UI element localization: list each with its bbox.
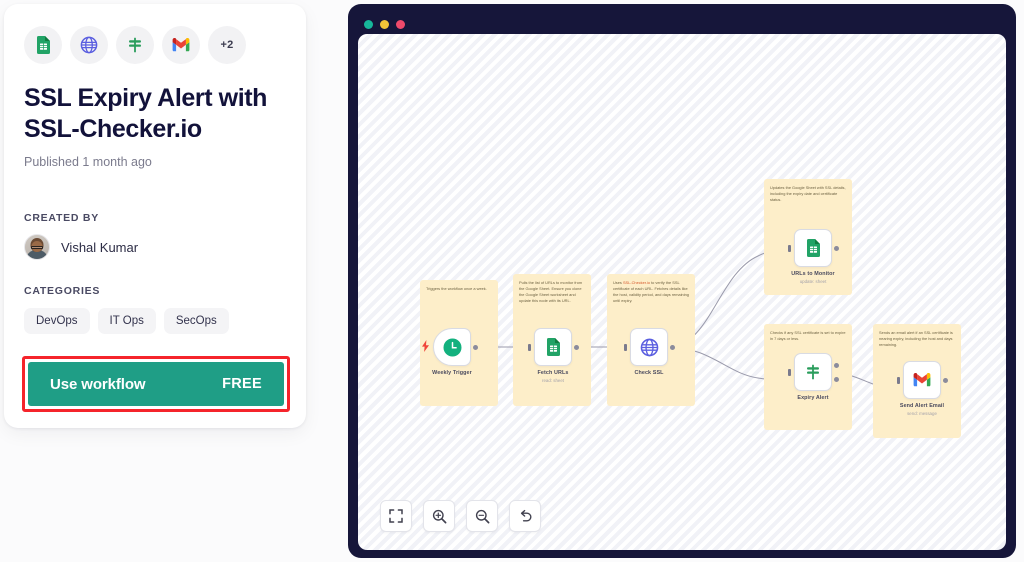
gmail-icon [913, 373, 931, 387]
node-weekly-trigger-label: Weekly Trigger [432, 370, 472, 376]
workflow-canvas[interactable]: Triggers the workflow once a week. Pulls… [358, 34, 1006, 550]
note-check-ssl-text: Uses SSL-Checker.io to verify the SSL ce… [613, 280, 689, 303]
note-expiry-alert-text: Checks if any SSL certificate is set to … [770, 330, 846, 342]
integration-icon-row: +2 [24, 26, 286, 64]
output-port[interactable] [473, 345, 478, 350]
avatar [24, 234, 50, 260]
created-by-label: CREATED BY [24, 212, 286, 224]
use-workflow-highlight: Use workflow FREE [22, 356, 290, 412]
zoom-out-button[interactable] [466, 500, 498, 532]
created-by-section: CREATED BY Vishal Kumar [24, 212, 286, 260]
fit-to-view-button[interactable] [380, 500, 412, 532]
undo-icon [518, 509, 533, 524]
traffic-light-red-icon[interactable] [396, 20, 405, 29]
node-fetch-urls-box[interactable] [534, 328, 572, 366]
output-port[interactable] [943, 378, 948, 383]
clock-icon [443, 338, 462, 357]
author-name: Vishal Kumar [61, 240, 138, 255]
category-chip-row: DevOps IT Ops SecOps [24, 308, 286, 334]
node-expiry-alert-label: Expiry Alert [797, 395, 828, 401]
google-sheets-icon [806, 239, 821, 257]
node-check-ssl-label: Check SSL [634, 370, 663, 376]
node-urls-to-monitor-label: URLs to Monitor [791, 271, 834, 277]
node-check-ssl[interactable]: Check SSL [630, 328, 668, 366]
note-fetch-urls-text: Pulls the list of URLs to monitor from t… [519, 280, 585, 303]
globe-icon [70, 26, 108, 64]
gmail-icon [162, 26, 200, 64]
input-port[interactable] [528, 344, 531, 351]
preview-window: Triggers the workflow once a week. Pulls… [348, 4, 1016, 558]
note-weekly-trigger-text: Triggers the workflow once a week. [426, 286, 492, 292]
page-title: SSL Expiry Alert with SSL-Checker.io [24, 83, 286, 144]
node-weekly-trigger-box[interactable] [433, 328, 471, 366]
input-port[interactable] [788, 369, 791, 376]
node-fetch-urls[interactable]: Fetch URLs read: sheet [534, 328, 572, 366]
use-workflow-button[interactable]: Use workflow FREE [28, 362, 284, 406]
node-send-alert-email[interactable]: Send Alert Email send: message [903, 361, 941, 399]
expand-icon [389, 509, 403, 523]
categories-section: CATEGORIES DevOps IT Ops SecOps [24, 285, 286, 334]
globe-icon [640, 338, 659, 357]
page-root: +2 SSL Expiry Alert with SSL-Checker.io … [0, 0, 1024, 562]
categories-label: CATEGORIES [24, 285, 286, 297]
input-port[interactable] [897, 377, 900, 384]
node-fetch-urls-label: Fetch URLs [538, 370, 569, 376]
window-titlebar [358, 14, 1006, 34]
output-port[interactable] [574, 345, 579, 350]
note-urls-to-monitor-text: Updates the Google Sheet with SSL detail… [770, 185, 846, 203]
zoom-in-button[interactable] [423, 500, 455, 532]
author-row[interactable]: Vishal Kumar [24, 234, 286, 260]
trigger-bolt-icon [422, 340, 429, 352]
node-expiry-alert[interactable]: Expiry Alert [794, 353, 832, 391]
node-send-alert-email-box[interactable] [903, 361, 941, 399]
more-integrations-badge[interactable]: +2 [208, 26, 246, 64]
google-sheets-icon [24, 26, 62, 64]
node-urls-to-monitor[interactable]: URLs to Monitor update: sheet [794, 229, 832, 267]
output-port-true[interactable] [834, 363, 839, 368]
node-send-alert-email-sub: send: message [907, 411, 937, 416]
note-send-alert-email-text: Sends an email alert if an SSL certifica… [879, 330, 955, 348]
canvas-toolbar [380, 500, 541, 532]
node-expiry-alert-box[interactable] [794, 353, 832, 391]
zoom-in-icon [432, 509, 447, 524]
node-urls-to-monitor-box[interactable] [794, 229, 832, 267]
input-port[interactable] [788, 245, 791, 252]
output-port[interactable] [834, 246, 839, 251]
traffic-light-green-icon[interactable] [364, 20, 373, 29]
output-port-false[interactable] [834, 377, 839, 382]
category-chip-devops[interactable]: DevOps [24, 308, 90, 334]
google-sheets-icon [546, 338, 561, 356]
zoom-out-icon [475, 509, 490, 524]
price-label: FREE [222, 376, 262, 392]
input-port[interactable] [624, 344, 627, 351]
use-workflow-label: Use workflow [50, 376, 146, 393]
switch-icon [804, 363, 822, 381]
reset-button[interactable] [509, 500, 541, 532]
node-fetch-urls-sub: read: sheet [542, 378, 564, 383]
node-weekly-trigger[interactable]: Weekly Trigger [433, 328, 471, 366]
switch-icon [116, 26, 154, 64]
node-urls-to-monitor-sub: update: sheet [800, 279, 827, 284]
category-chip-secops[interactable]: SecOps [164, 308, 229, 334]
workflow-info-card: +2 SSL Expiry Alert with SSL-Checker.io … [4, 4, 306, 428]
traffic-light-yellow-icon[interactable] [380, 20, 389, 29]
category-chip-itops[interactable]: IT Ops [98, 308, 156, 334]
node-check-ssl-box[interactable] [630, 328, 668, 366]
output-port[interactable] [670, 345, 675, 350]
node-send-alert-email-label: Send Alert Email [900, 403, 944, 409]
more-integrations-label: +2 [221, 39, 234, 51]
published-date: Published 1 month ago [24, 155, 286, 169]
